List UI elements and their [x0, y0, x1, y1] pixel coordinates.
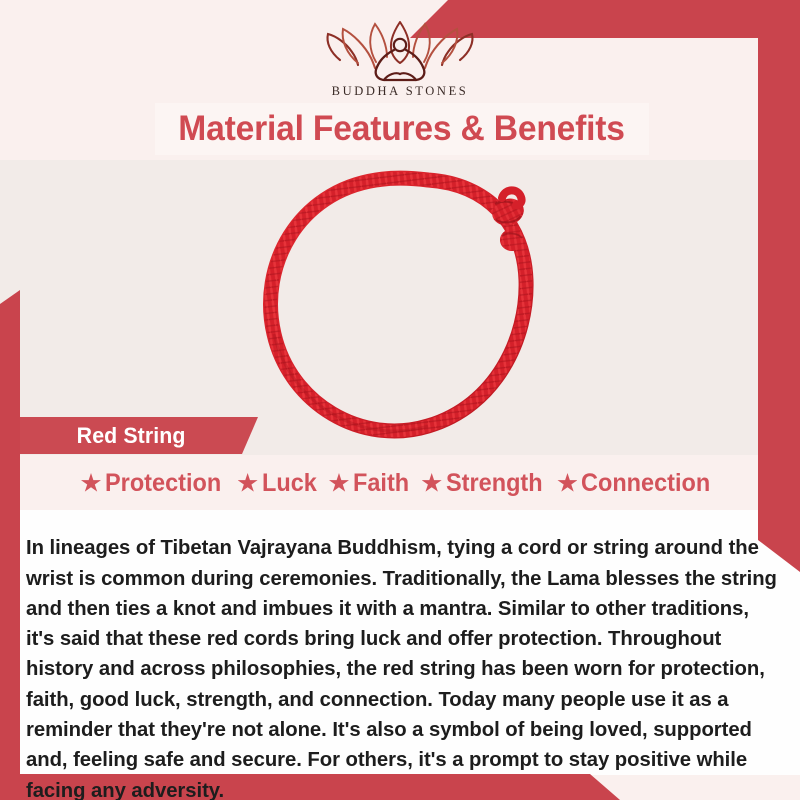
star-icon — [81, 473, 101, 493]
brand-logo: BUDDHA STONES — [0, 16, 800, 99]
star-icon — [557, 473, 577, 493]
feature-label: Strength — [446, 469, 543, 498]
feature-label: Luck — [262, 469, 317, 498]
star-icon — [422, 473, 442, 493]
feature-item-connection: Connection — [557, 469, 719, 498]
material-name-banner: Red String — [20, 417, 258, 454]
feature-label: Protection — [105, 469, 221, 498]
feature-label: Connection — [581, 469, 710, 498]
product-infographic: BUDDHA STONES Material Features & Benefi… — [0, 0, 800, 800]
page-title-text: Material Features & Benefits — [179, 109, 626, 149]
feature-list: Protection Luck Faith Strength Connectio… — [22, 464, 778, 502]
brand-name: BUDDHA STONES — [0, 84, 800, 99]
lotus-meditation-figure-icon — [0, 16, 800, 82]
feature-label: Faith — [353, 469, 409, 498]
red-string-bracelet-illustration — [250, 168, 580, 458]
description-text: In lineages of Tibetan Vajrayana Buddhis… — [26, 533, 778, 800]
star-icon — [238, 473, 258, 493]
feature-item-protection: Protection — [81, 469, 229, 498]
star-icon — [329, 473, 349, 493]
feature-item-luck: Luck — [238, 469, 320, 498]
decor-left-red-bar — [0, 290, 20, 800]
product-image — [250, 168, 580, 458]
page-title: Material Features & Benefits — [155, 103, 649, 155]
feature-item-strength: Strength — [422, 469, 549, 498]
feature-item-faith: Faith — [329, 469, 413, 498]
material-name-text: Red String — [77, 423, 186, 449]
